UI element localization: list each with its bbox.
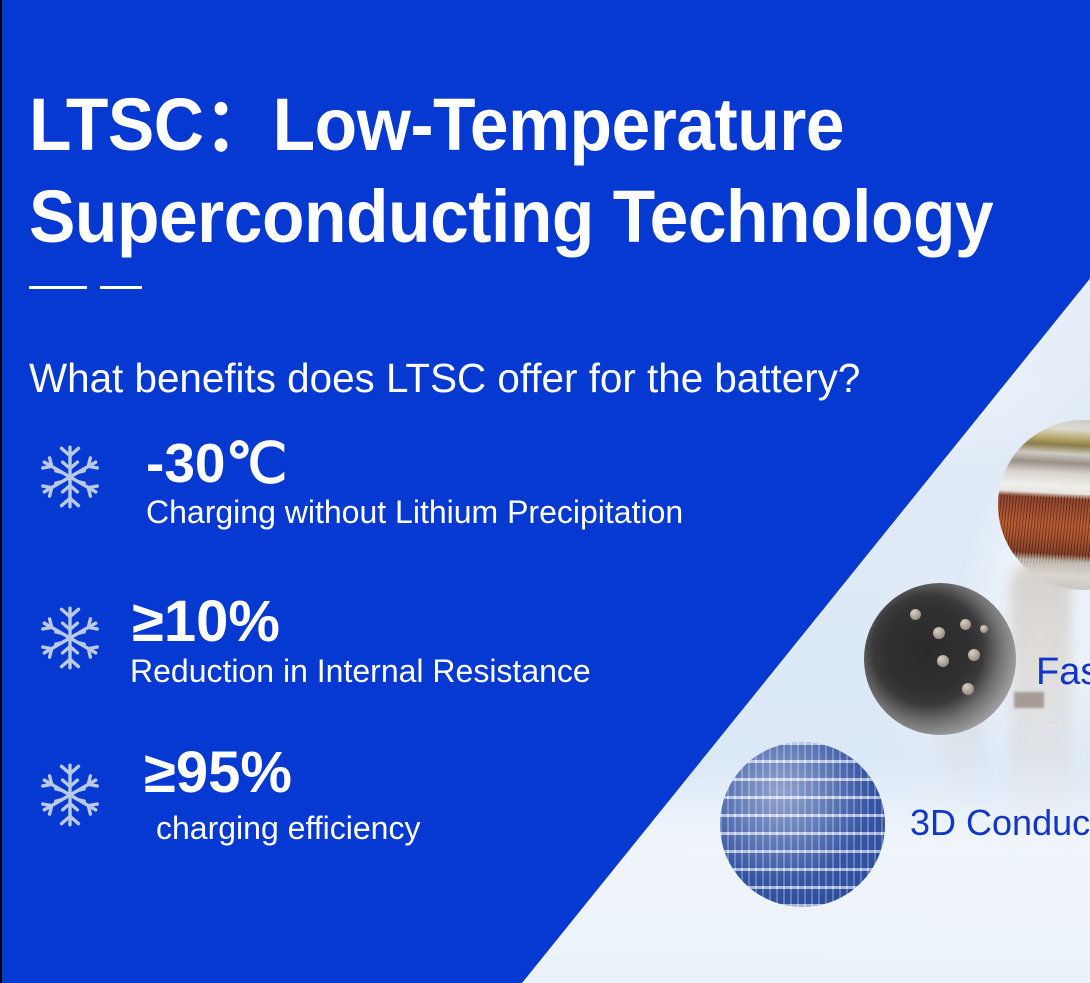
divider-dash-long <box>29 286 87 289</box>
title-divider <box>29 286 142 289</box>
electrode-pore <box>933 627 945 639</box>
benefit-caption: Reduction in Internal Resistance <box>130 652 591 690</box>
electrode-pore <box>980 625 988 633</box>
electrode-pore <box>962 683 974 695</box>
benefit-value: ≥10% <box>132 592 591 652</box>
benefit-caption: Charging without Lithium Precipitation <box>146 493 683 531</box>
conductive-lattice-inset <box>720 742 885 907</box>
snowflake-icon <box>36 443 104 511</box>
benefit-texts: ≥10% Reduction in Internal Resistance <box>132 592 591 690</box>
page-title-line-1: LTSC：Low-Temperature <box>29 79 1054 171</box>
ltsc-slide: Fast 3D Conduc LTSC：Low-Temperature Supe… <box>0 0 1090 983</box>
benefit-row: -30℃ Charging without Lithium Precipitat… <box>36 433 683 531</box>
subtitle-question: What benefits does LTSC offer for the ba… <box>29 353 860 403</box>
benefit-value: ≥95% <box>144 743 420 803</box>
electrode-pore <box>937 655 949 667</box>
electrode-pore <box>910 609 921 620</box>
benefit-texts: -30℃ Charging without Lithium Precipitat… <box>146 433 683 531</box>
benefit-value: -30℃ <box>146 433 683 493</box>
electrode-pore <box>968 649 980 661</box>
divider-dash-short <box>100 286 142 289</box>
page-title: LTSC：Low-Temperature Superconducting Tec… <box>29 79 1054 263</box>
benefit-texts: ≥95% charging efficiency <box>144 743 420 847</box>
conductive-network-label: 3D Conduc <box>910 802 1090 844</box>
lattice-highlight <box>720 742 885 907</box>
benefit-row: ≥10% Reduction in Internal Resistance <box>36 592 591 690</box>
benefit-caption: charging efficiency <box>156 809 420 847</box>
snowflake-icon <box>36 761 104 829</box>
graphite-electrode-inset <box>864 583 1016 735</box>
page-title-line-2: Superconducting Technology <box>29 171 1054 263</box>
electrode-pore <box>960 619 971 630</box>
copper-coil-texture <box>998 495 1090 563</box>
benefit-row: ≥95% charging efficiency <box>36 743 420 847</box>
distant-cabin <box>1014 692 1044 708</box>
snowflake-icon <box>36 604 104 672</box>
fast-charging-label: Fast <box>1036 651 1090 694</box>
